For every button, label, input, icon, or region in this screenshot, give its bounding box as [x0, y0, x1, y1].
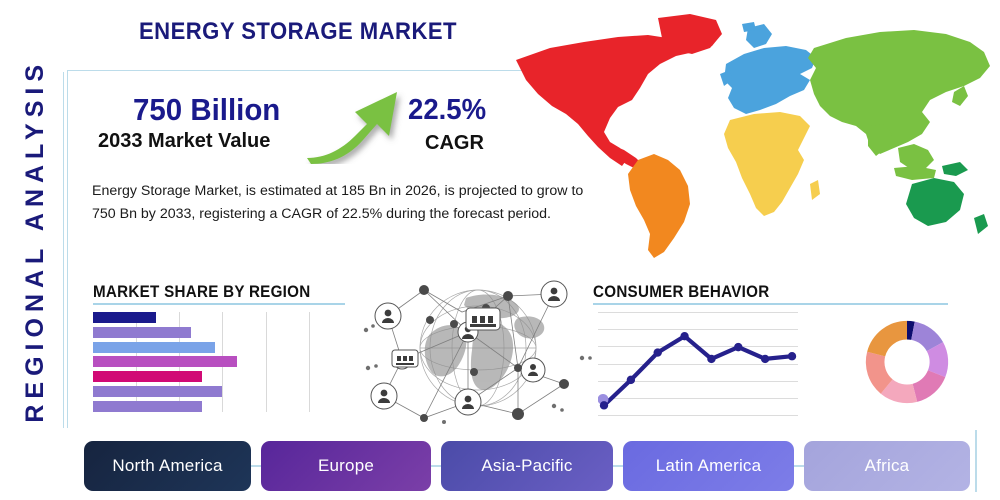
bar-6 — [93, 401, 202, 412]
bar-2 — [93, 342, 215, 353]
consumer-behavior-line-chart — [598, 312, 798, 415]
section-underline-market-share — [93, 303, 345, 305]
map-region-indonesia — [894, 166, 936, 180]
map-region-australia — [906, 178, 964, 226]
table-row — [93, 356, 323, 367]
region-connector — [251, 465, 261, 467]
region-button-label: Latin America — [656, 456, 762, 476]
consumer-behavior-donut-chart — [858, 312, 956, 412]
vertical-section-label-text: REGIONAL ANALYSIS — [21, 59, 50, 423]
region-connector — [431, 465, 441, 467]
map-region-south-america — [628, 154, 690, 258]
table-row — [93, 401, 323, 412]
region-connector — [794, 465, 804, 467]
market-description: Energy Storage Market, is estimated at 1… — [92, 180, 597, 226]
growth-arrow-icon — [305, 84, 415, 164]
map-region-madagascar — [810, 180, 820, 200]
region-button-label: Asia-Pacific — [481, 456, 572, 476]
donut-chart-segments — [858, 312, 956, 412]
bar-1 — [93, 327, 191, 338]
left-vertical-divider — [63, 72, 64, 428]
section-underline-consumer-behavior — [593, 303, 948, 305]
kpi-row: 750 Billion 2033 Market Value 22.5% CAGR — [90, 92, 520, 167]
bar-chart-rows — [93, 312, 323, 412]
region-button-africa[interactable]: Africa — [804, 441, 970, 491]
section-title-market-share: MARKET SHARE BY REGION — [93, 283, 310, 302]
region-button-latin-america[interactable]: Latin America — [623, 441, 794, 491]
table-row — [93, 327, 323, 338]
right-vertical-divider — [975, 430, 977, 492]
map-region-png — [942, 162, 968, 176]
bar-0 — [93, 312, 156, 323]
map-region-new-zealand — [974, 214, 988, 234]
line-chart-series — [598, 312, 798, 415]
map-region-africa — [724, 112, 810, 216]
bar-3 — [93, 356, 237, 367]
market-share-bar-chart — [93, 312, 323, 412]
table-row — [93, 342, 323, 353]
region-button-label: North America — [112, 456, 222, 476]
region-button-europe[interactable]: Europe — [261, 441, 431, 491]
market-value-caption: 2033 Market Value — [98, 130, 270, 153]
region-button-label: Europe — [318, 456, 374, 476]
map-region-europe — [724, 46, 816, 114]
region-connector — [613, 465, 623, 467]
market-value-figure: 750 Billion — [133, 92, 280, 128]
world-map-icon — [498, 8, 996, 270]
region-button-bar: North America Europe Asia-Pacific Latin … — [84, 441, 984, 491]
bar-5 — [93, 386, 222, 397]
cagr-figure: 22.5% — [408, 94, 486, 127]
page-title: ENERGY STORAGE MARKET — [139, 18, 457, 46]
globe-network-icon — [358, 272, 598, 430]
table-row — [93, 386, 323, 397]
region-button-asia-pacific[interactable]: Asia-Pacific — [441, 441, 613, 491]
region-button-north-america[interactable]: North America — [84, 441, 251, 491]
vertical-section-label: REGIONAL ANALYSIS — [12, 56, 58, 426]
section-title-consumer-behavior: CONSUMER BEHAVIOR — [593, 283, 769, 302]
cagr-caption: CAGR — [425, 132, 484, 155]
table-row — [93, 312, 323, 323]
region-button-label: Africa — [865, 456, 910, 476]
bar-4 — [93, 371, 202, 382]
table-row — [93, 371, 323, 382]
infographic-canvas: REGIONAL ANALYSIS ENERGY STORAGE MARKET — [0, 0, 1000, 500]
